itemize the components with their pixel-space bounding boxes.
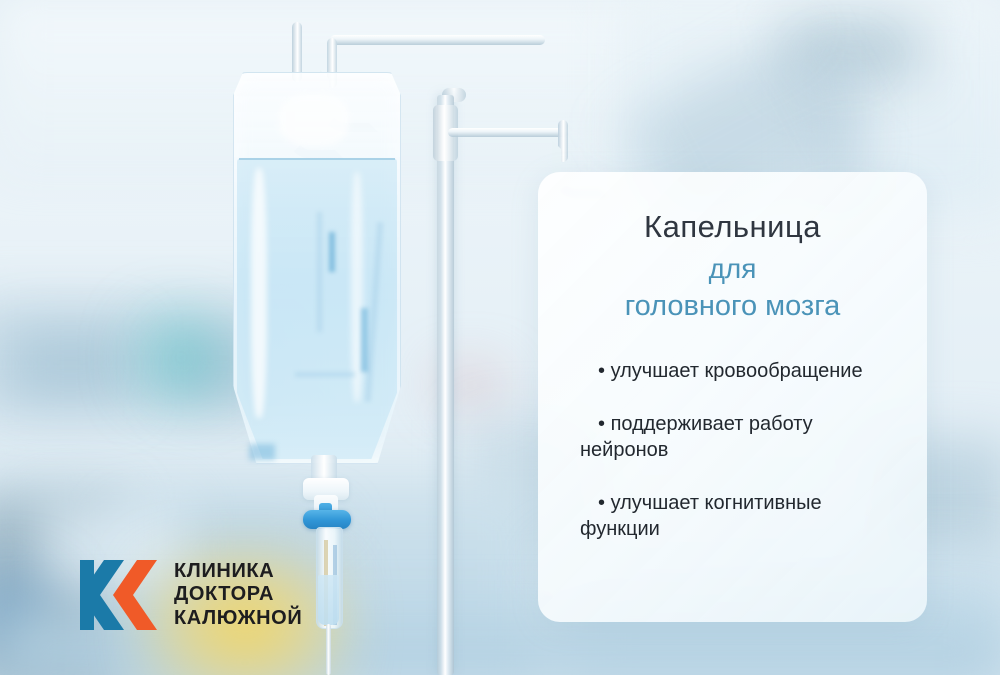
iv-bag-highlight-left [251,168,267,418]
kk-monogram-icon [78,556,160,634]
clinic-logo: КЛИНИКА ДОКТОРА КАЛЮЖНОЙ [78,556,302,634]
panel-title-sub2: головного мозга [564,288,901,324]
clinic-logo-line: ДОКТОРА [174,584,302,606]
iv-drip-chamber-fluid [318,575,339,625]
iv-stand-crossbar-right [448,128,568,137]
iv-bag-blue-mark-c [249,444,275,460]
clinic-logo-line: КЛИНИКА [174,561,302,583]
clinic-logo-line: КАЛЮЖНОЙ [174,608,302,630]
info-panel-content: Капельница для головного мозга улучшает … [538,172,927,622]
panel-title-main: Капельница [564,208,901,245]
iv-bag-blue-mark-a [329,232,335,272]
benefit-item: улучшает кровообращение [580,358,895,384]
iv-bag-crease-c [295,372,355,377]
panel-title-sub1: для [564,251,901,286]
iv-line-tube [326,624,331,675]
benefits-list: улучшает кровообращение поддерживает раб… [564,358,901,542]
poster-canvas: Капельница для головного мозга улучшает … [0,0,1000,675]
iv-bag [233,72,401,464]
iv-bag-highlight-top [279,94,349,146]
benefit-item: улучшает когнитивные функции [580,490,895,543]
clinic-logo-text: КЛИНИКА ДОКТОРА КАЛЮЖНОЙ [174,561,302,630]
benefit-item: поддерживает работу нейронов [580,411,895,464]
iv-stand-pole [437,95,454,675]
iv-stand-crossbar [330,35,545,45]
iv-bag-crease-a [317,212,322,332]
iv-bag-fluid-level [239,158,395,160]
info-panel: Капельница для головного мозга улучшает … [538,172,927,622]
iv-bag-blue-mark-b [361,308,368,372]
